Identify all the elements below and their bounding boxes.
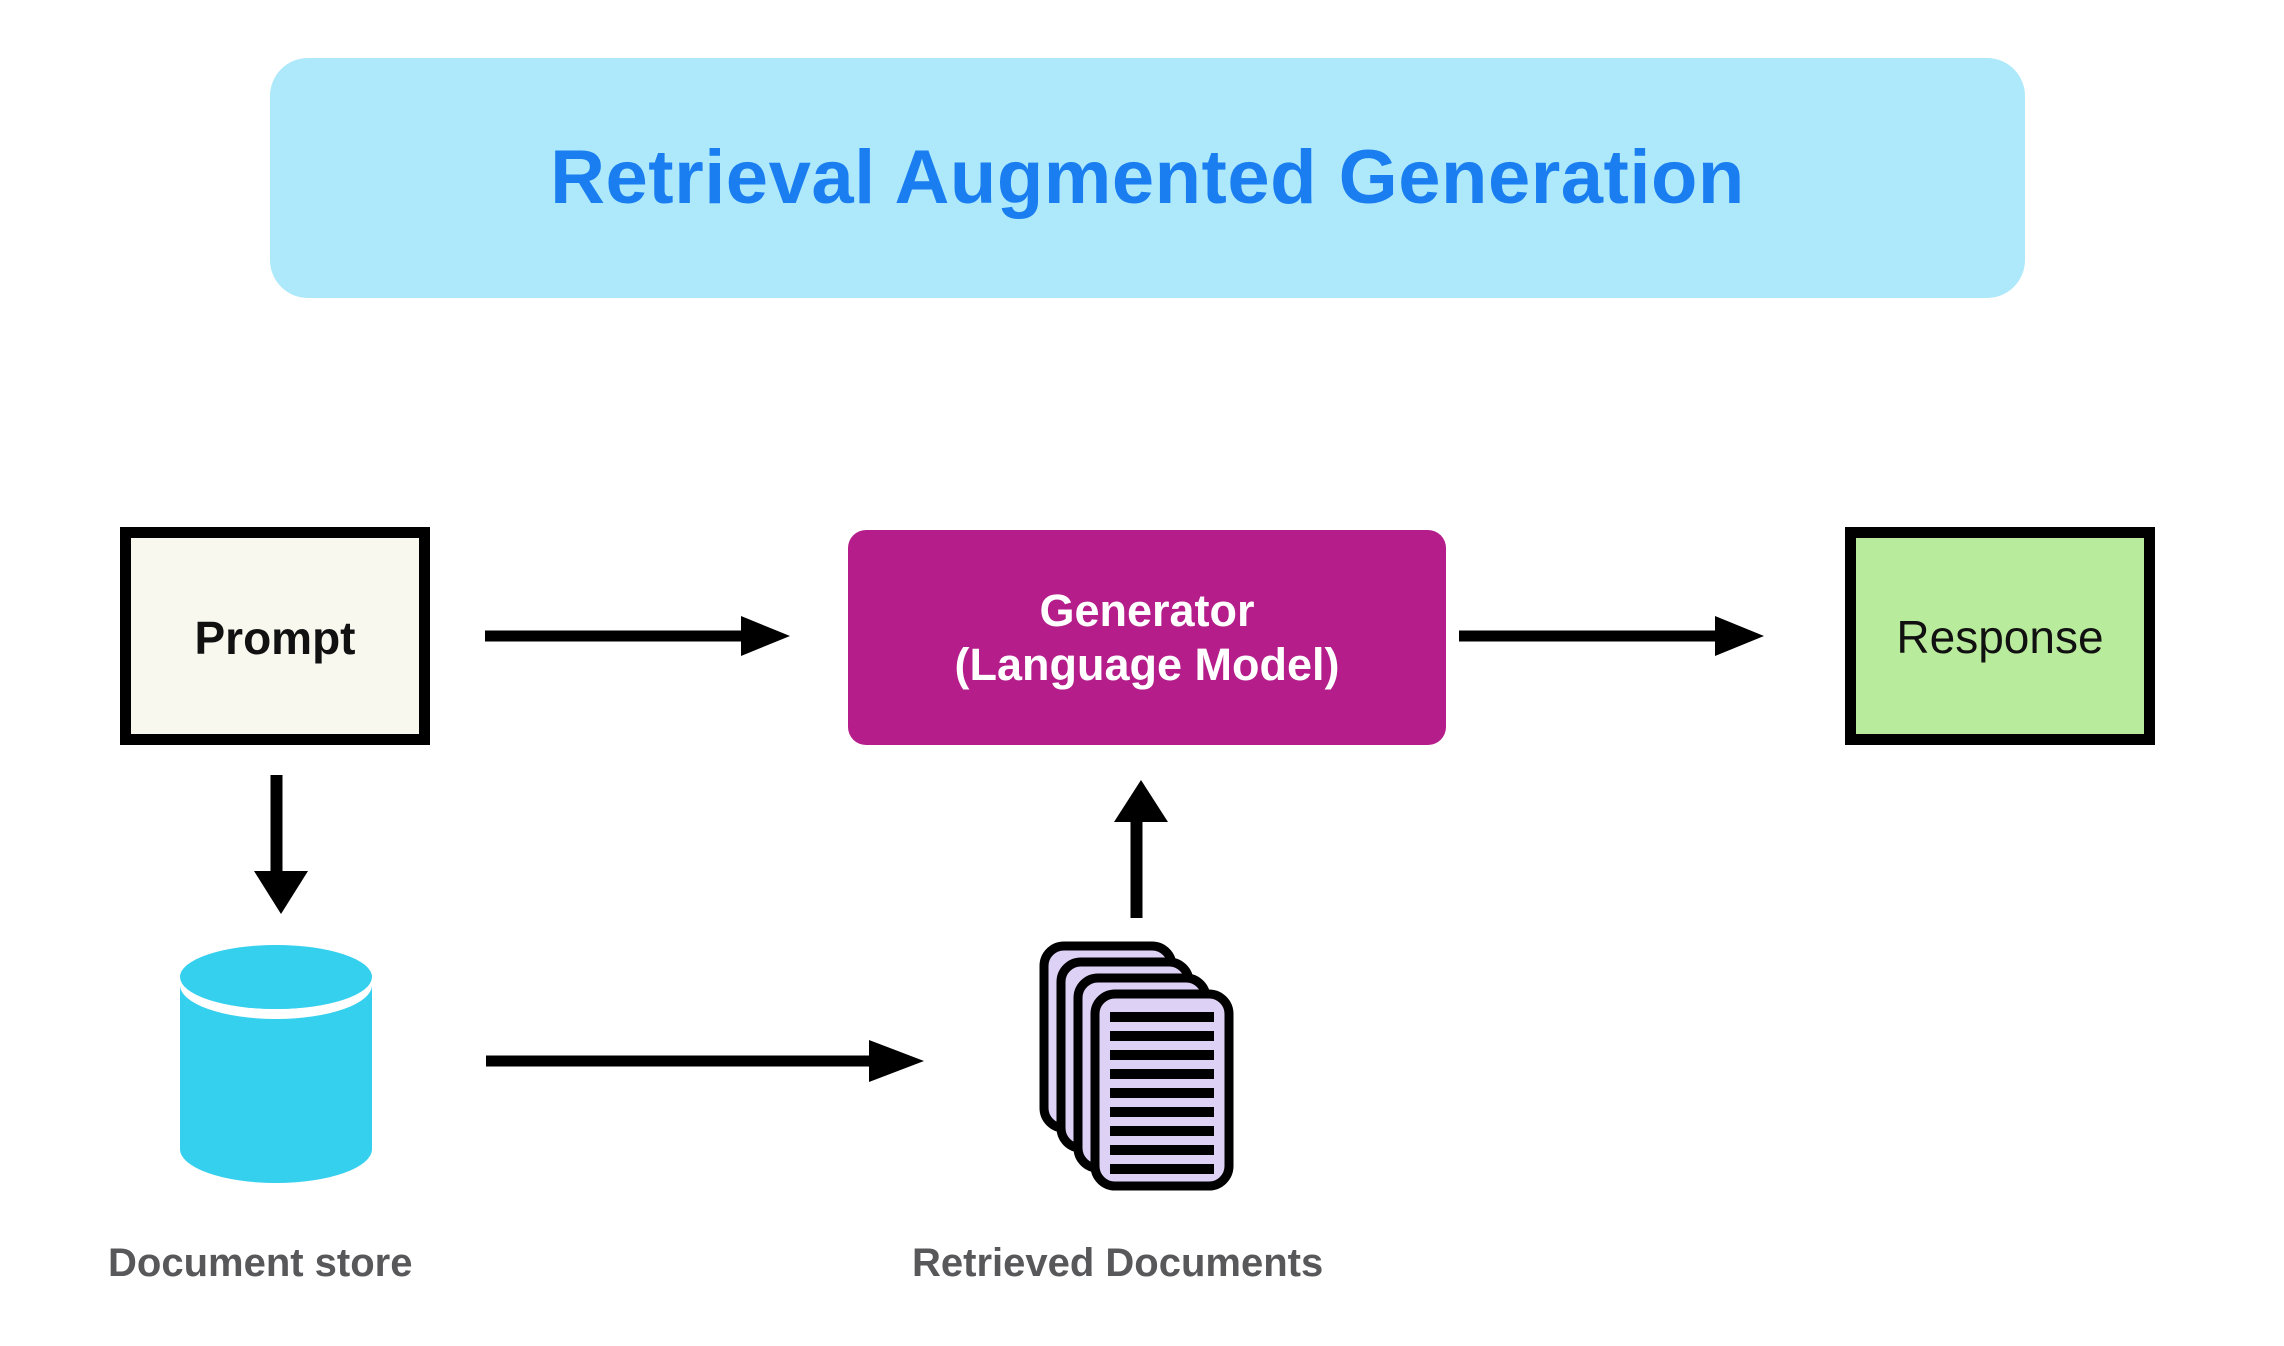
arrow-document-store-to-retrieved-documents (486, 1025, 936, 1097)
node-generator-label: Generator (Language Model) (955, 584, 1340, 690)
diagram-canvas: Retrieval Augmented Generation Prompt Ge… (0, 0, 2284, 1346)
arrowhead (254, 871, 308, 914)
document-text-lines (1110, 1012, 1214, 1174)
title-banner: Retrieval Augmented Generation (270, 58, 2025, 298)
arrow-retrieved-documents-to-generator (1105, 778, 1177, 918)
node-response-label: Response (1896, 614, 2103, 660)
arrow-prompt-to-document-store (245, 775, 317, 915)
node-prompt-label: Prompt (195, 615, 356, 661)
arrow-prompt-to-generator (485, 600, 795, 672)
database-cylinder-icon (178, 945, 374, 1185)
caption-retrieved-documents: Retrieved Documents (912, 1243, 1323, 1283)
arrow-generator-to-response (1459, 600, 1769, 672)
node-generator-label-line1: Generator (1039, 585, 1254, 636)
page-title: Retrieval Augmented Generation (550, 140, 1745, 216)
arrow-shaft (271, 775, 283, 876)
arrow-shaft (1131, 816, 1143, 918)
arrowhead (1715, 616, 1764, 656)
arrow-shaft (1459, 631, 1723, 642)
arrow-shaft (486, 1056, 876, 1067)
node-generator: Generator (Language Model) (848, 530, 1446, 745)
arrow-shaft (485, 631, 749, 642)
node-generator-label-line2: (Language Model) (955, 639, 1340, 690)
arrowhead (1114, 780, 1168, 822)
documents-stack-icon (1038, 940, 1238, 1192)
cylinder-top (180, 945, 372, 1009)
node-prompt: Prompt (120, 527, 430, 745)
arrowhead (741, 616, 790, 656)
caption-document-store: Document store (108, 1243, 413, 1283)
arrowhead (869, 1040, 924, 1082)
node-response: Response (1845, 527, 2155, 745)
